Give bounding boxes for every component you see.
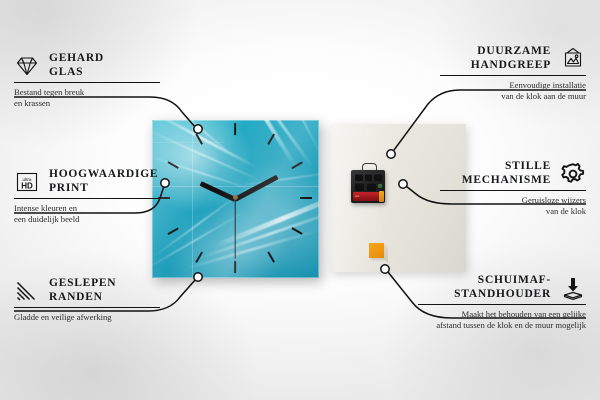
feature-description: Bestand tegen breuk en krassen xyxy=(14,87,160,109)
feature-description: Maakt het behouden van een gelijke afsta… xyxy=(418,309,586,331)
feature-duurzame-handgreep[interactable]: DUURZAME HANDGREEP Eenvoudige installati… xyxy=(440,45,586,102)
feature-divider xyxy=(14,82,160,83)
feature-header: SCHUIMAF- STANDHOUDER xyxy=(418,274,586,301)
glass-edge-highlight xyxy=(152,120,319,278)
feature-title: STILLE MECHANISME xyxy=(462,160,551,187)
clock-battery: AA xyxy=(353,192,383,201)
beveled-edges-icon xyxy=(14,278,40,304)
feature-description: Intense kleuren en een duidelijk beeld xyxy=(14,203,160,225)
feature-title: HOOGWAARDIGE PRINT xyxy=(49,168,158,195)
feature-schuimafstandhouder[interactable]: SCHUIMAF- STANDHOUDER Maakt het behouden… xyxy=(418,274,586,331)
feature-stille-mechanisme[interactable]: STILLE MECHANISME Geruisloze wijzers van… xyxy=(440,160,586,217)
battery-text: AA xyxy=(355,194,359,198)
feature-description: Gladde en veilige afwerking xyxy=(14,312,160,323)
infographic-canvas: AA xyxy=(0,0,600,400)
feature-divider xyxy=(14,198,160,199)
feature-header: DUURZAME HANDGREEP xyxy=(440,45,586,72)
svg-text:HD: HD xyxy=(21,181,33,190)
feature-divider xyxy=(440,75,586,76)
feature-title: SCHUIMAF- STANDHOUDER xyxy=(454,274,551,301)
feature-header: ultra HD HOOGWAARDIGE PRINT xyxy=(14,168,160,195)
feature-title: DUURZAME HANDGREEP xyxy=(471,45,551,72)
hanging-picture-icon xyxy=(560,46,586,72)
feature-divider xyxy=(14,307,160,308)
ultra-hd-icon: ultra HD xyxy=(14,169,40,195)
diamond-icon xyxy=(14,53,40,79)
feature-description: Geruisloze wijzers van de klok xyxy=(440,195,586,217)
feature-divider xyxy=(418,304,586,305)
feature-title: GEHARD GLAS xyxy=(49,52,104,79)
feature-geslepen-randen[interactable]: GESLEPEN RANDEN Gladde en veilige afwerk… xyxy=(14,277,160,323)
foam-spacer-side xyxy=(384,244,388,262)
gear-icon xyxy=(560,161,586,187)
feature-header: STILLE MECHANISME xyxy=(440,160,586,187)
feature-header: GESLEPEN RANDEN xyxy=(14,277,160,304)
clock-glass-face xyxy=(152,120,319,278)
foam-spacer xyxy=(369,243,384,258)
feature-header: GEHARD GLAS xyxy=(14,52,160,79)
feature-title: GESLEPEN RANDEN xyxy=(49,277,116,304)
feature-divider xyxy=(440,190,586,191)
feature-gehard-glas[interactable]: GEHARD GLAS Bestand tegen breuk en krass… xyxy=(14,52,160,109)
feature-description: Eenvoudige installatie van de klok aan d… xyxy=(440,80,586,102)
battery-positive-cap xyxy=(379,191,384,202)
mechanism-knobs xyxy=(354,173,382,191)
feature-hoogwaardige-print[interactable]: ultra HD HOOGWAARDIGE PRINT Intense kleu… xyxy=(14,168,160,225)
down-arrow-pad-icon xyxy=(560,275,586,301)
